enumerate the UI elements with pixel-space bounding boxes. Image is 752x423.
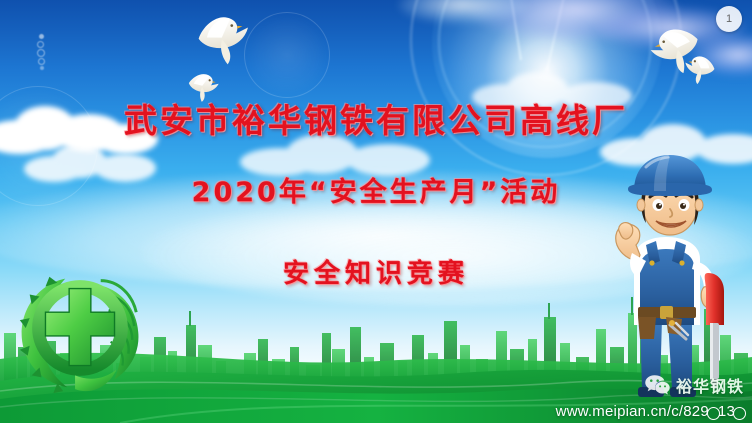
meipian-url-watermark[interactable]: www.meipian.cn/c/829 13: [556, 403, 744, 420]
worker-hard-hat: [628, 155, 712, 196]
cartoon-worker-mascot: [594, 149, 748, 401]
worker-torso: [634, 237, 700, 339]
lens-flare-ring-2: [37, 49, 45, 57]
page-number-label: 1: [726, 13, 732, 25]
obscured-digit-2: [733, 407, 746, 420]
cloud-left-mid: [24, 140, 174, 184]
lens-flare-dot-2: [40, 66, 44, 70]
meipian-url-prefix: www.meipian.cn/c/829: [556, 403, 709, 420]
wechat-account-name: 裕华钢铁: [676, 373, 744, 397]
page-number-badge[interactable]: 1: [716, 6, 742, 32]
worker-tool: [705, 273, 724, 389]
safety-production-emblem: [6, 255, 154, 403]
lens-flare-halo-2: [244, 12, 330, 98]
lens-flare-ring-1: [37, 41, 44, 48]
wechat-account-watermark: 裕华钢铁: [644, 373, 744, 397]
obscured-digit-1: [707, 407, 720, 420]
presentation-slide: 武安市裕华钢铁有限公司高线厂 2020年“安全生产月”活动 安全知识竞赛 1 裕…: [0, 0, 752, 423]
lens-flare-ring-3: [38, 58, 45, 65]
lens-flare-dot-1: [39, 34, 44, 39]
cloud-right-mid: [472, 66, 642, 114]
wechat-icon: [644, 374, 671, 396]
